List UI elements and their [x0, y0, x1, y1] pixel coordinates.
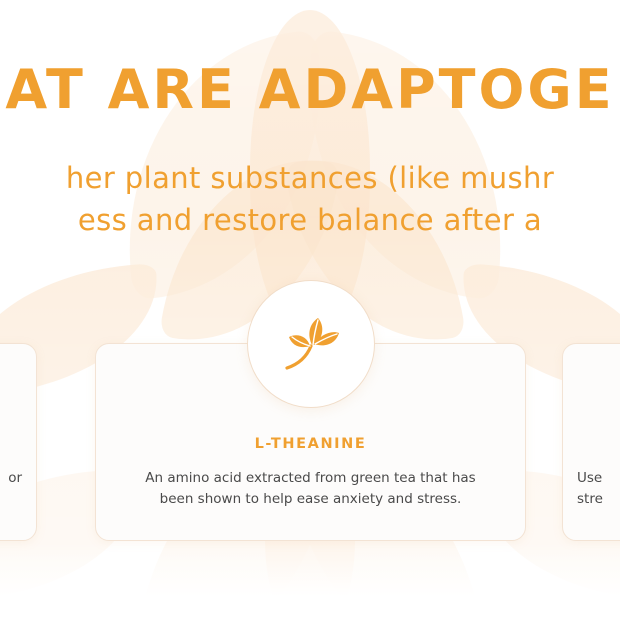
card-right-body-line-2: stre — [577, 489, 603, 510]
tea-leaf-icon — [279, 315, 343, 373]
infographic-page: AT ARE ADAPTOGE her plant substances (li… — [0, 0, 620, 620]
card-left-body-fragment: or — [8, 468, 22, 489]
subtitle-line-2: ess and restore balance after a — [0, 203, 620, 237]
card-right-body-fragment: Use stre — [577, 468, 603, 510]
card-body: An amino acid extracted from green tea t… — [133, 468, 489, 510]
card-title: L-THEANINE — [96, 436, 525, 452]
card-right-body-line-1: Use — [577, 468, 603, 489]
bottom-fade-overlay — [0, 542, 620, 620]
ingredient-card-right[interactable]: Use stre — [562, 343, 620, 541]
page-title: AT ARE ADAPTOGE — [0, 62, 620, 119]
subtitle-line-1: her plant substances (like mushr — [0, 161, 620, 195]
ingredient-card-left[interactable]: or — [0, 343, 37, 541]
l-theanine-badge — [247, 280, 375, 408]
